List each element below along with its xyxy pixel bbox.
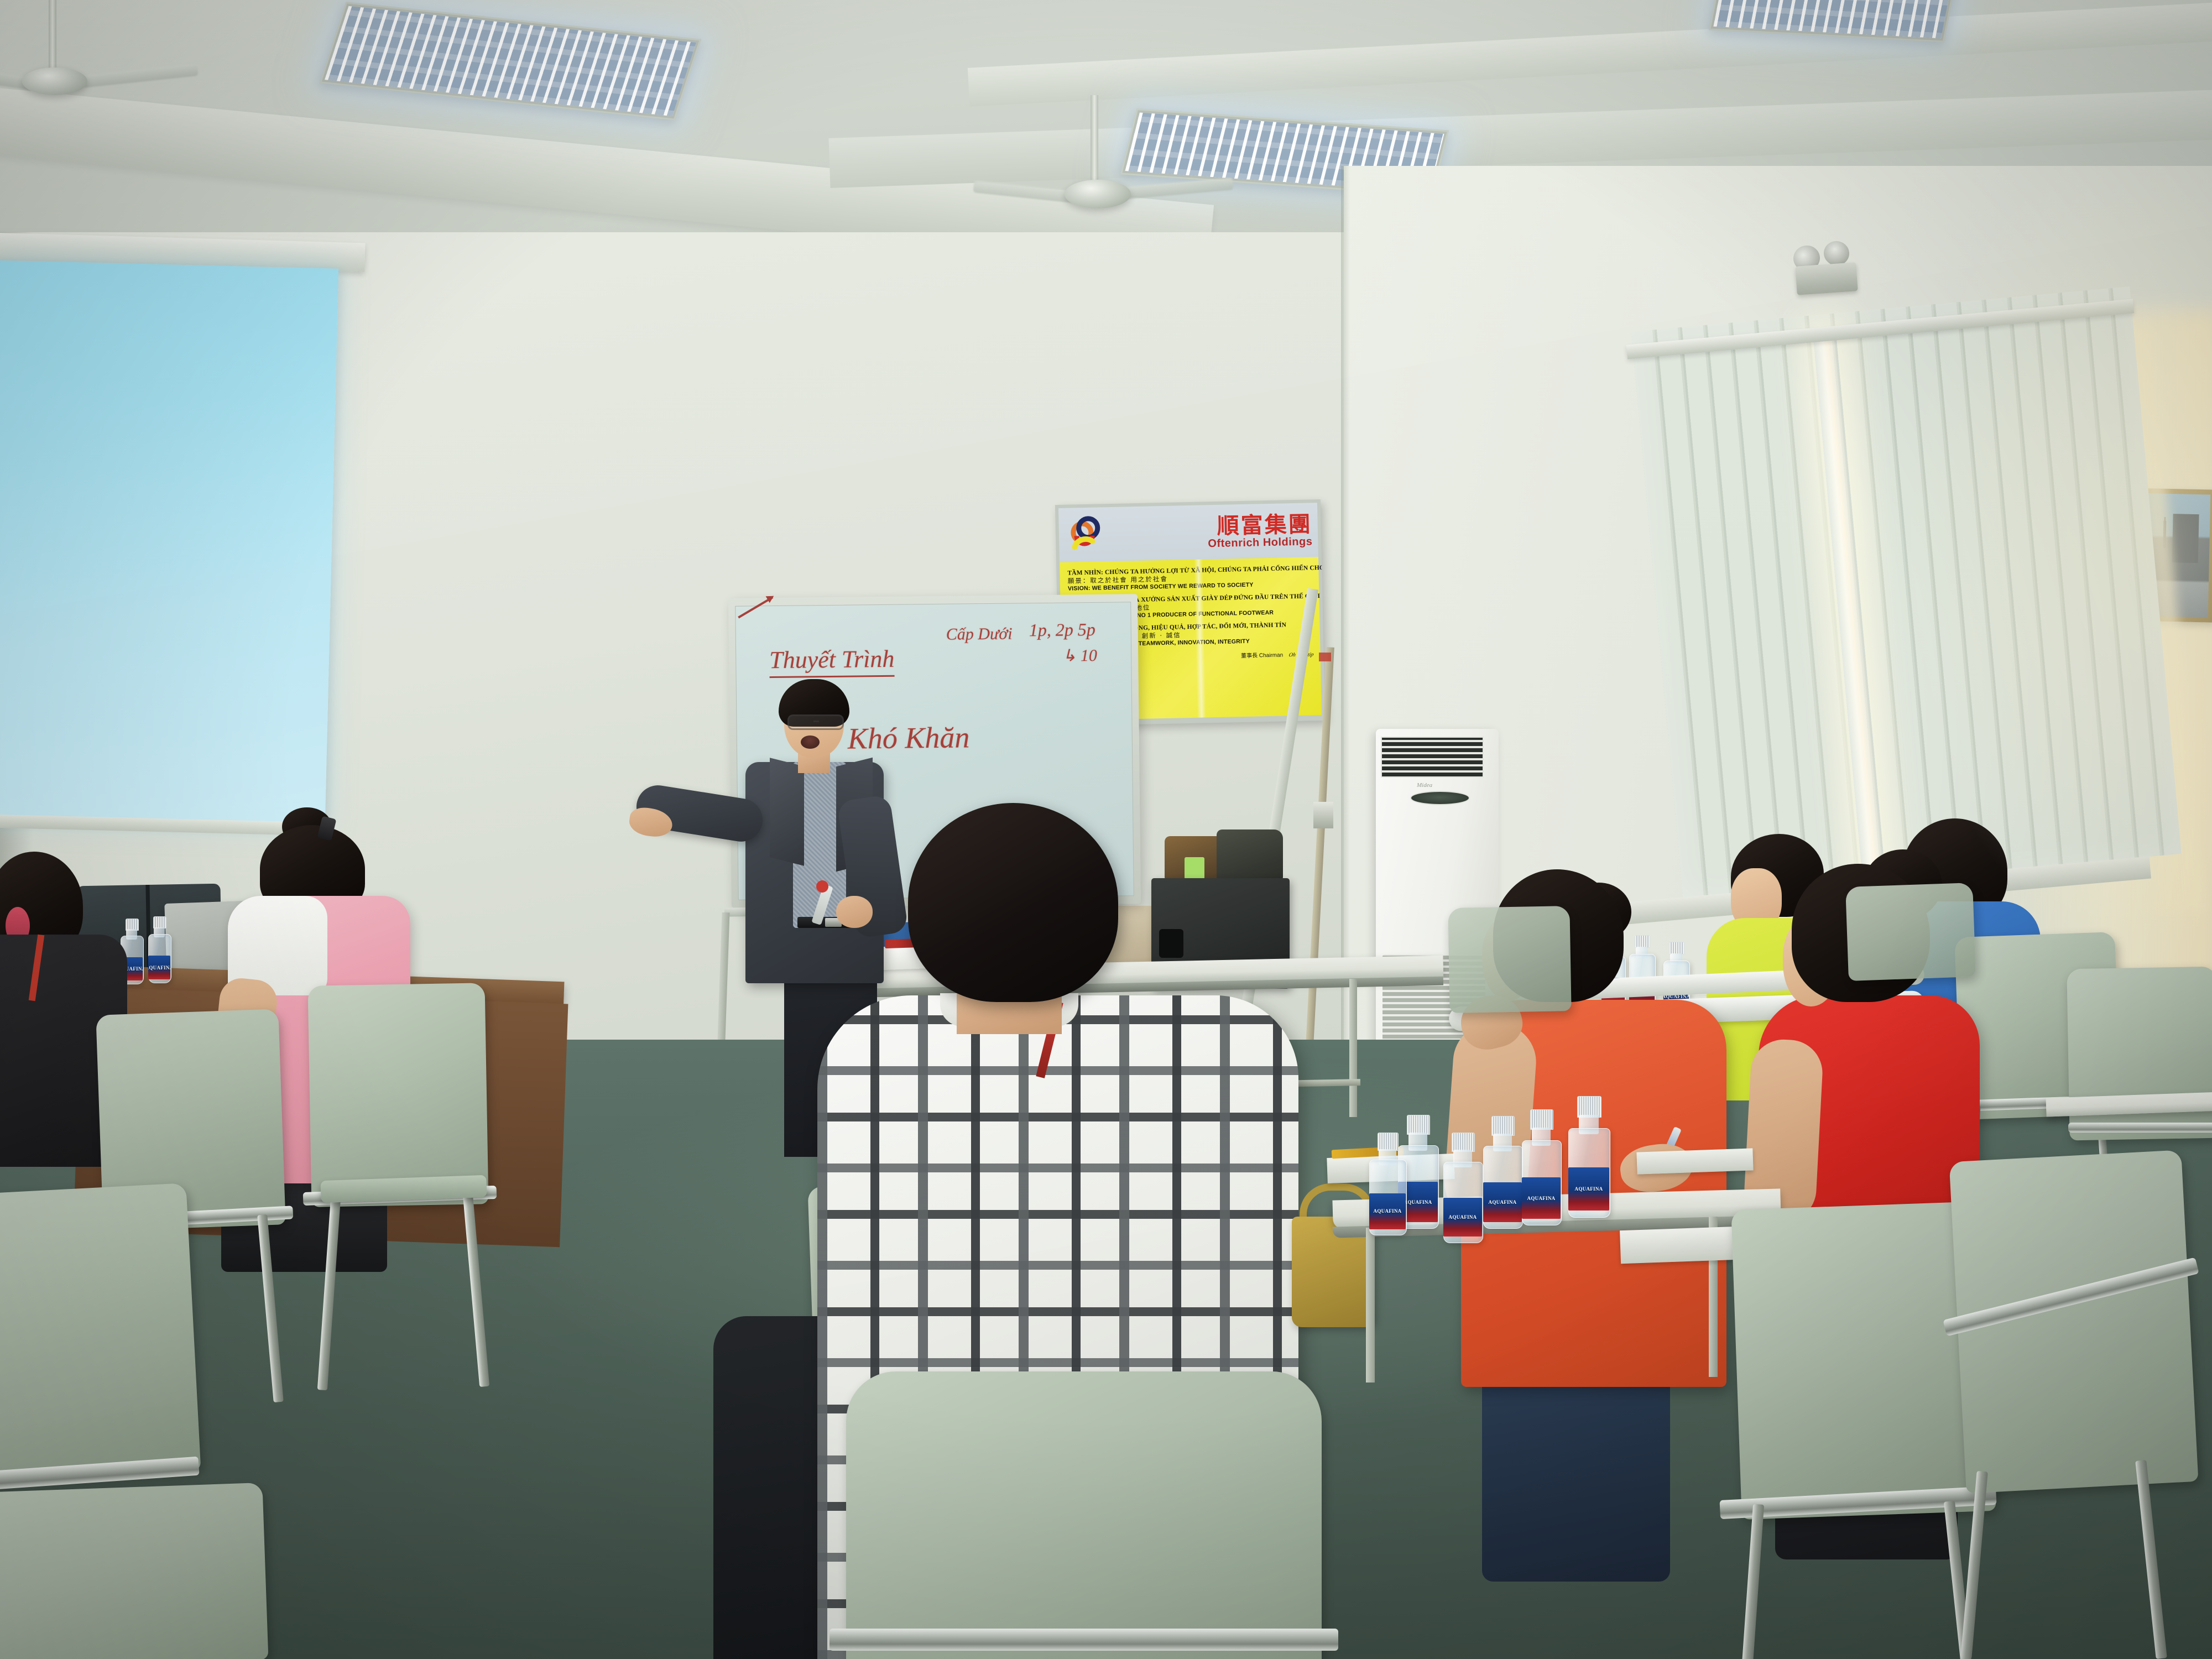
bottle-brand-label: AQUAFINA <box>1404 1199 1432 1205</box>
water-bottle[interactable]: AQUAFINA <box>148 918 170 983</box>
bottle-brand-label: AQUAFINA <box>1527 1196 1556 1201</box>
attendee-plaid-hair <box>908 803 1118 1002</box>
ceiling-fan-motor <box>22 67 87 95</box>
whiteboard-note-kho-khan: Khó Khăn <box>847 720 969 755</box>
bottle-brand-label: AQUAFINA <box>1489 1199 1517 1205</box>
folding-chair-foreground[interactable] <box>846 1371 1322 1659</box>
folding-chair[interactable] <box>1448 906 1571 1013</box>
whiteboard-arrow-icon <box>738 596 773 618</box>
work-boot <box>1217 830 1283 880</box>
presenter-lapel <box>770 758 804 865</box>
boot-tag <box>1185 857 1204 879</box>
chair-chrome-rail <box>830 1629 1338 1651</box>
bottle-brand-label: AQUAFINA <box>148 965 170 971</box>
eyeglasses-icon <box>787 714 844 730</box>
vertical-blinds[interactable] <box>1631 286 2182 899</box>
bottle-brand-label: AQUAFINA <box>1449 1214 1477 1220</box>
presenter-mouth <box>801 735 820 749</box>
whiteboard-note-thuyet-trinh: Thuyết Trình <box>769 645 895 678</box>
folding-chair-foreground[interactable] <box>0 1483 268 1659</box>
banner-company-chinese: 順富集團 <box>1207 513 1312 538</box>
water-bottle[interactable]: AQUAFINA <box>1522 1112 1561 1225</box>
emergency-light-icon <box>1795 262 1858 295</box>
ceiling-fan-downrod <box>49 0 56 72</box>
bottle-brand-label: AQUAFINA <box>1374 1208 1402 1214</box>
whiteboard-note-times: 1p, 2p 5p <box>1029 619 1095 640</box>
bottle-brand-label: AQUAFINA <box>1575 1186 1603 1192</box>
banner-brandmark: 順富集團 Oftenrich Holdings <box>1207 513 1312 550</box>
easel-tip <box>1319 653 1331 661</box>
seminar-room-photo: 順富集團 Oftenrich Holdings TẦM NHÌN: CHÚNG … <box>0 0 2212 1659</box>
notebook[interactable] <box>1636 1148 1753 1174</box>
banner-block-vision: TẦM NHÌN: CHÚNG TA HƯỞNG LỢI TỪ XÃ HỘI, … <box>1067 565 1312 592</box>
ac-top-grille <box>1381 737 1484 778</box>
water-bottle[interactable]: AQUAFINA <box>1443 1135 1482 1243</box>
chair-chrome-rail <box>2068 1123 2212 1133</box>
folding-chair[interactable] <box>1845 883 1976 981</box>
speaker-port <box>1159 929 1183 958</box>
banner-chairman-cn: 董事長 <box>1241 653 1258 659</box>
table-leg <box>1349 979 1357 1117</box>
water-bottle[interactable]: AQUAFINA <box>1369 1135 1406 1235</box>
oftenrich-logo-icon <box>1064 513 1107 556</box>
folding-chair-foreground[interactable] <box>0 1183 201 1483</box>
presenter-right-hand <box>836 896 873 928</box>
ac-brand-logo: Midea <box>1417 782 1432 789</box>
folding-chair[interactable] <box>308 983 489 1207</box>
whiteboard-note-arrow-ten: ↳ 10 <box>1062 646 1097 666</box>
banner-company-english: Oftenrich Holdings <box>1208 536 1312 550</box>
easel-clamp <box>1313 802 1333 828</box>
ac-display-panel <box>1410 791 1470 805</box>
banner-header: 順富集團 Oftenrich Holdings <box>1058 503 1318 562</box>
water-bottle[interactable]: AQUAFINA <box>1568 1098 1609 1218</box>
ceiling-fan-downrod <box>1091 95 1098 184</box>
projection-screen <box>0 260 338 827</box>
whiteboard-note-cap-duoi: Cấp Dưới <box>946 625 1013 644</box>
ceiling-fan-motor <box>1065 180 1131 208</box>
water-bottle[interactable]: AQUAFINA <box>1483 1118 1522 1229</box>
banner-chairman-en: Chairman <box>1259 652 1284 659</box>
table-leg <box>1366 1228 1375 1383</box>
